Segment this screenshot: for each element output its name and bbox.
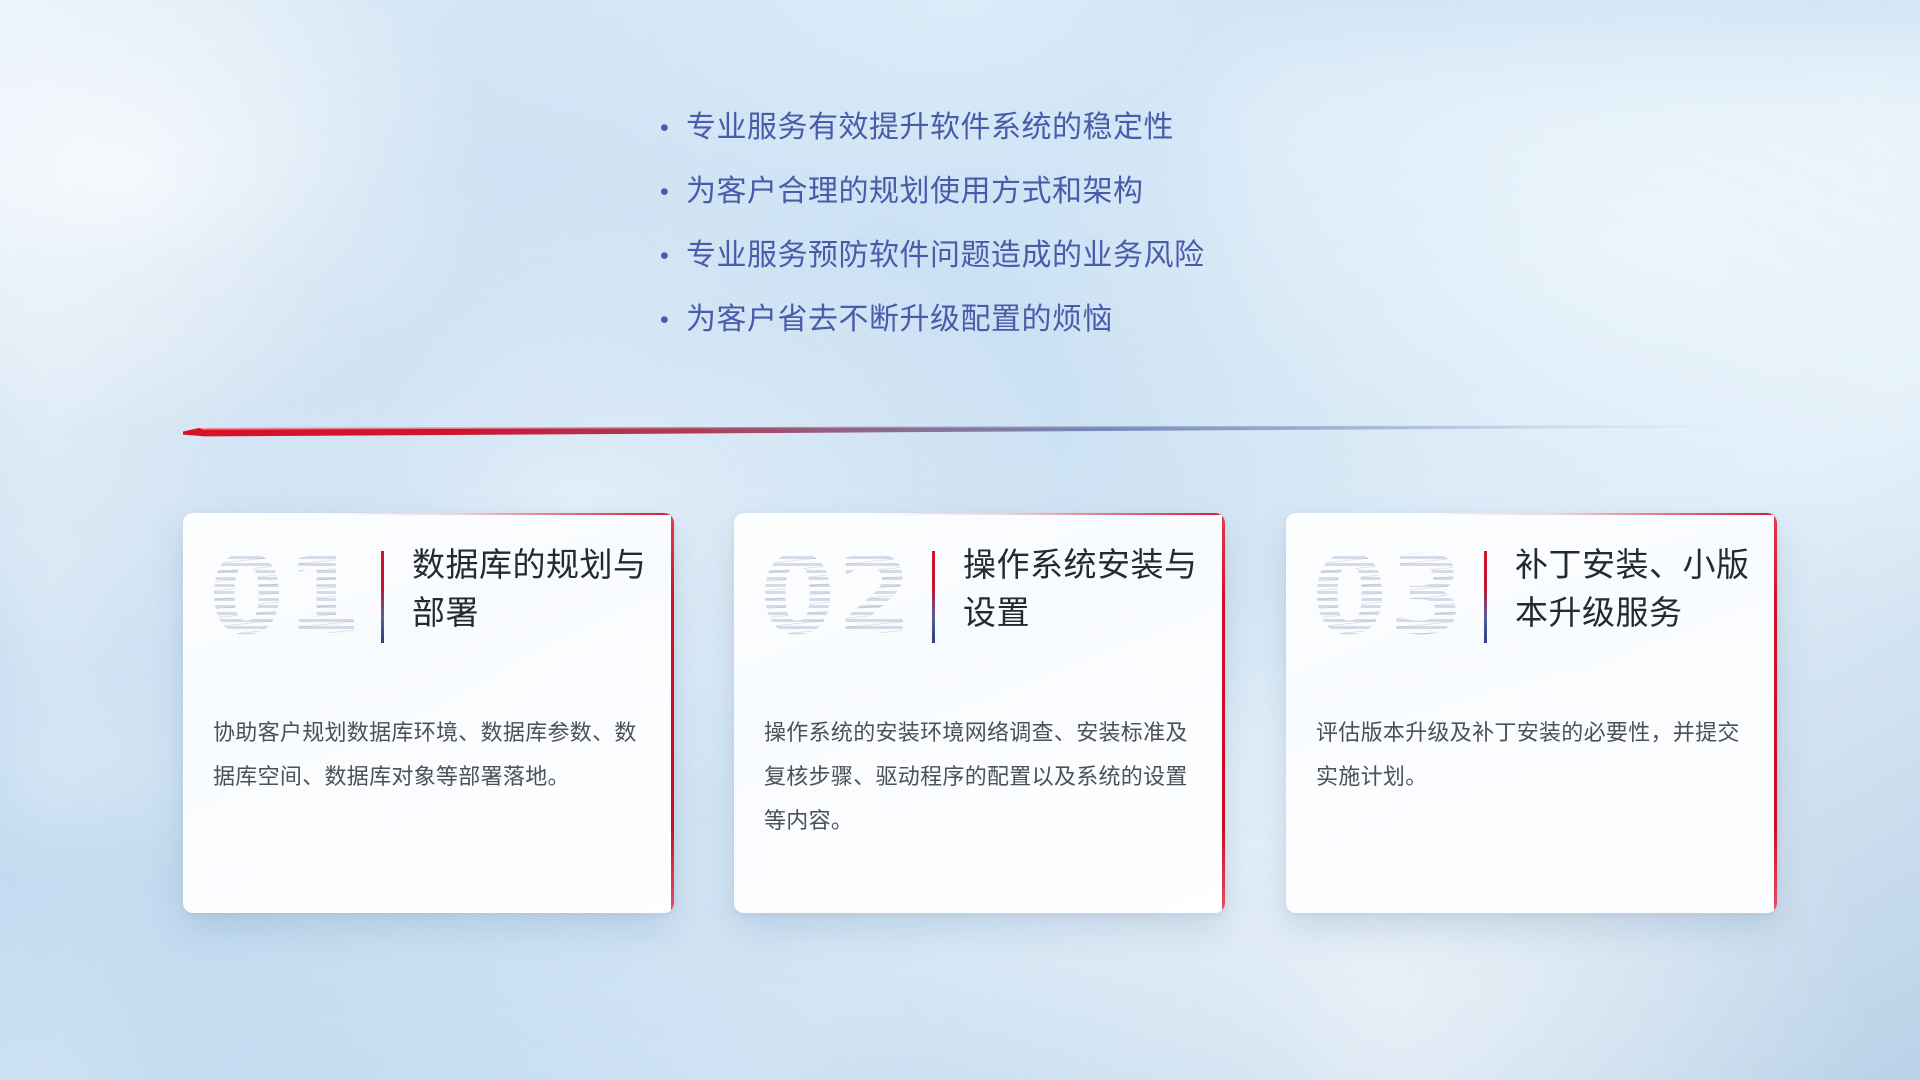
list-item: • 专业服务预防软件问题造成的业务风险	[660, 236, 1460, 300]
service-card-01[interactable]: 01 01 数据库的规划与部署 协助客户规划数据库环境、数据库参数、数据库空间、…	[183, 513, 674, 913]
card-number-watermark-overlay: 03	[1312, 537, 1466, 657]
card-number-watermark-overlay: 02	[760, 537, 914, 657]
card-title-divider-bar	[381, 551, 384, 643]
service-cards: 01 01 数据库的规划与部署 协助客户规划数据库环境、数据库参数、数据库空间、…	[183, 513, 1777, 921]
bullet-text: 为客户省去不断升级配置的烦恼	[686, 300, 1113, 340]
card-body-text: 操作系统的安装环境网络调查、安装标准及复核步骤、驱动程序的配置以及系统的设置等内…	[764, 711, 1188, 843]
service-card-02[interactable]: 02 02 操作系统安装与设置 操作系统的安装环境网络调查、安装标准及复核步骤、…	[734, 513, 1225, 913]
bullet-text: 专业服务预防软件问题造成的业务风险	[686, 236, 1205, 276]
card-title-divider-bar	[932, 551, 935, 643]
bullet-dot-icon: •	[660, 172, 686, 212]
card-header: 03 03 补丁安装、小版本升级服务	[1286, 513, 1777, 683]
card-header: 01 01 数据库的规划与部署	[183, 513, 674, 683]
card-title: 操作系统安装与设置	[963, 541, 1203, 637]
card-body-text: 协助客户规划数据库环境、数据库参数、数据库空间、数据库对象等部署落地。	[213, 711, 637, 799]
list-item: • 专业服务有效提升软件系统的稳定性	[660, 108, 1460, 172]
benefits-bullet-list: • 专业服务有效提升软件系统的稳定性 • 为客户合理的规划使用方式和架构 • 专…	[660, 108, 1460, 364]
card-title: 数据库的规划与部署	[412, 541, 652, 637]
bullet-text: 专业服务有效提升软件系统的稳定性	[686, 108, 1174, 148]
bullet-dot-icon: •	[660, 300, 686, 340]
section-divider	[183, 424, 1743, 446]
service-card-03[interactable]: 03 03 补丁安装、小版本升级服务 评估版本升级及补丁安装的必要性，并提交实施…	[1286, 513, 1777, 913]
bullet-dot-icon: •	[660, 108, 686, 148]
bullet-dot-icon: •	[660, 236, 686, 276]
card-header: 02 02 操作系统安装与设置	[734, 513, 1225, 683]
card-title: 补丁安装、小版本升级服务	[1515, 541, 1755, 637]
bullet-text: 为客户合理的规划使用方式和架构	[686, 172, 1144, 212]
card-number-watermark-overlay: 01	[209, 537, 363, 657]
list-item: • 为客户省去不断升级配置的烦恼	[660, 300, 1460, 364]
card-body-text: 评估版本升级及补丁安装的必要性，并提交实施计划。	[1316, 711, 1740, 799]
list-item: • 为客户合理的规划使用方式和架构	[660, 172, 1460, 236]
slide-stage: • 专业服务有效提升软件系统的稳定性 • 为客户合理的规划使用方式和架构 • 专…	[0, 0, 1920, 1080]
card-title-divider-bar	[1484, 551, 1487, 643]
